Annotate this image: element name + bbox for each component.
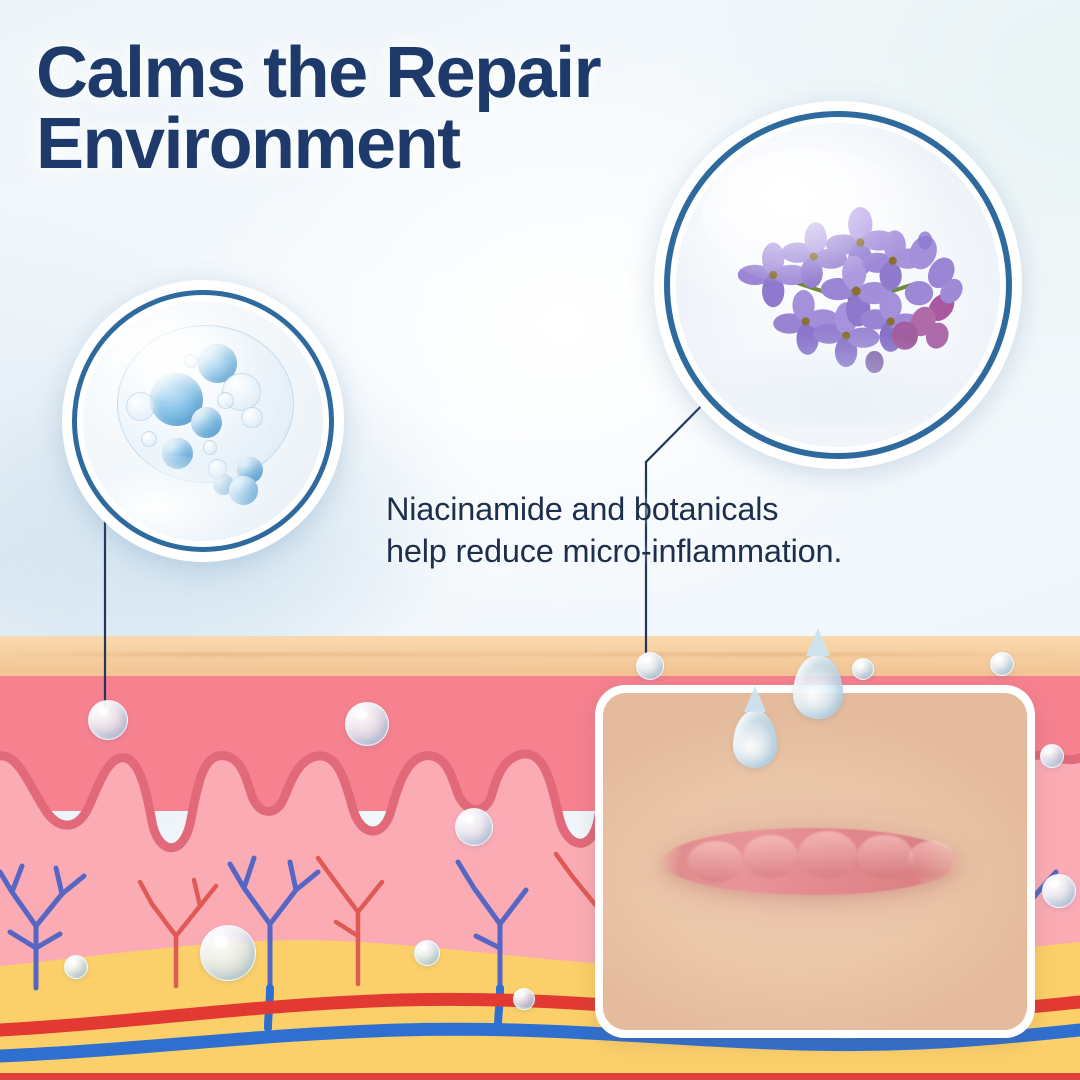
bubble <box>64 955 88 979</box>
bubble <box>345 702 389 746</box>
serum-base-shadow <box>695 330 980 427</box>
page-title: Calms the Repair Environment <box>36 38 736 181</box>
ingredient-circle-serum[interactable] <box>62 280 344 562</box>
serum-gel-image <box>83 301 323 541</box>
gel-bubble-clear <box>241 407 263 429</box>
bubble <box>636 652 664 680</box>
circle-ring <box>72 290 334 552</box>
gel-gloss-highlight <box>107 320 251 402</box>
infographic-canvas: Calms the Repair Environment Niacinamide… <box>0 0 1080 1080</box>
droplet-tip <box>806 628 830 656</box>
bubble <box>455 808 493 846</box>
bubble <box>88 700 128 740</box>
bubble <box>1040 744 1064 768</box>
bubble <box>414 940 440 966</box>
droplet-tip <box>744 686 766 712</box>
bubble <box>852 658 874 680</box>
bubble <box>1042 874 1076 908</box>
bubble <box>990 652 1014 676</box>
bubble <box>513 988 535 1010</box>
gel-bubble <box>191 407 222 438</box>
benefit-caption: Niacinamide and botanicals help reduce m… <box>386 489 1006 572</box>
bubble <box>200 925 256 981</box>
gel-bubble-clear <box>203 440 217 454</box>
